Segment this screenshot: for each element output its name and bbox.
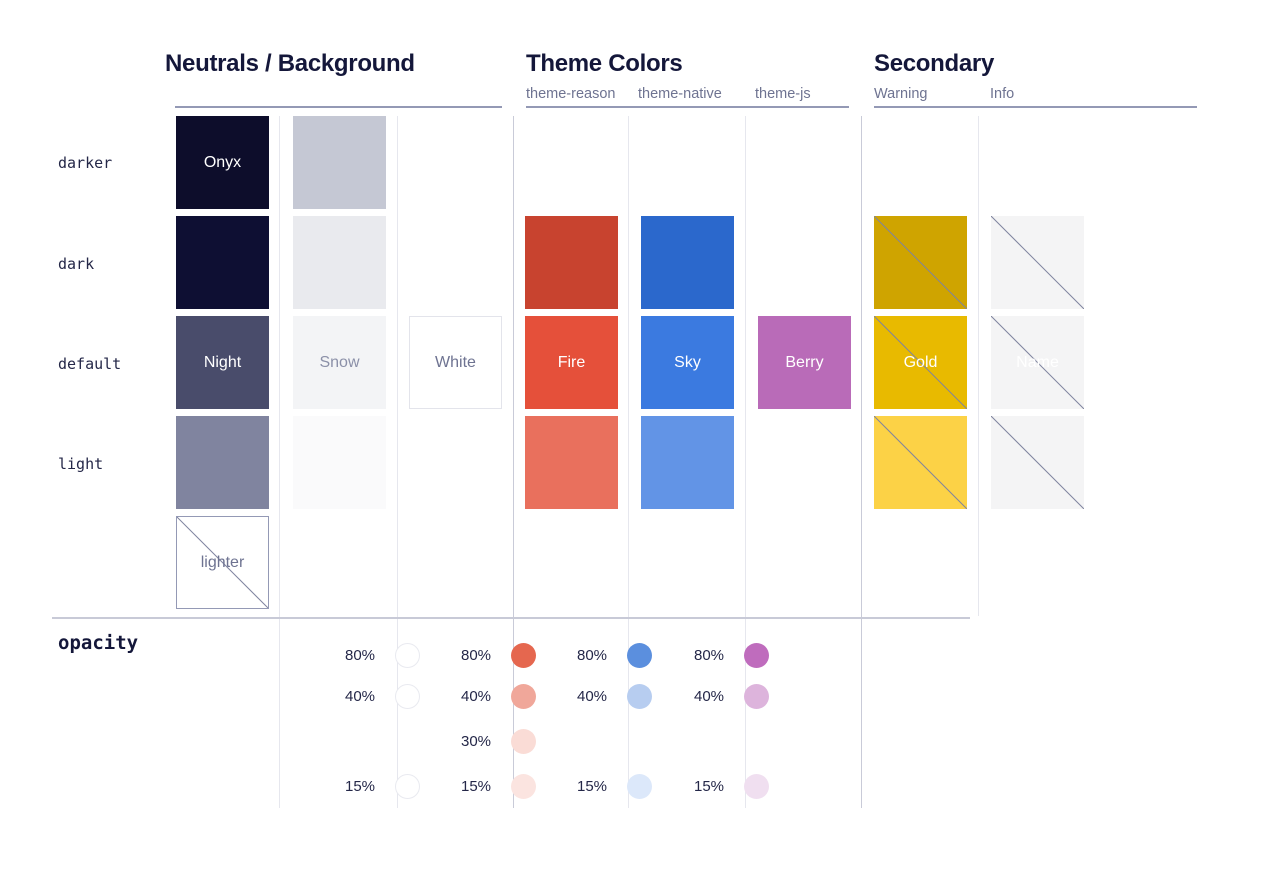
swatch-snow-light[interactable] [293,416,386,509]
opacity-dot-fire-15[interactable] [511,774,536,799]
swatch-label-berry: Berry [785,355,823,371]
section-title-neutrals: Neutrals / Background [165,50,415,78]
swatch-label-white: White [435,355,476,371]
section-subtitle-warning: Warning [874,86,927,102]
swatch-snow-darker[interactable] [293,116,386,209]
opacity-dot-berry-40[interactable] [744,684,769,709]
swatch-label-name: Name [1016,355,1059,371]
row-label-default: default [58,355,121,373]
section-subtitle-theme-reason: theme-reason [526,86,615,102]
opacity-dot-berry-15[interactable] [744,774,769,799]
opacity-dot-fire-80[interactable] [511,643,536,668]
diagonal-placeholder-icon [874,416,967,509]
opacity-dot-sky-80[interactable] [627,643,652,668]
swatch-label-fire: Fire [558,355,586,371]
row-label-darker: darker [58,154,112,172]
opacity-dot-white-80[interactable] [395,643,420,668]
opacity-dot-sky-15[interactable] [627,774,652,799]
swatch-label-onyx: Onyx [204,155,241,171]
opacity-percent-white-15: 15% [345,778,375,795]
grid-line-1 [279,116,280,808]
section-rule-theme [526,106,849,108]
opacity-dot-white-40[interactable] [395,684,420,709]
opacity-percent-berry-80: 80% [694,647,724,664]
opacity-percent-sky-40: 40% [577,688,607,705]
swatch-sky-default[interactable]: Sky [641,316,734,409]
swatch-onyx-lighter[interactable]: lighter [176,516,269,609]
section-subtitle-info: Info [990,86,1014,102]
opacity-dot-fire-30[interactable] [511,729,536,754]
opacity-percent-sky-80: 80% [577,647,607,664]
opacity-percent-fire-15: 15% [461,778,491,795]
swatch-berry-default[interactable]: Berry [758,316,851,409]
grid-line-7 [978,116,979,616]
diagonal-placeholder-icon [874,216,967,309]
swatch-label-onyx: Night [204,355,241,371]
opacity-section-divider [52,617,970,619]
swatch-gold-light[interactable] [874,416,967,509]
swatch-snow-default[interactable]: Snow [293,316,386,409]
opacity-percent-berry-40: 40% [694,688,724,705]
opacity-percent-white-40: 40% [345,688,375,705]
swatch-label-gold: Gold [904,355,938,371]
opacity-percent-fire-40: 40% [461,688,491,705]
swatch-sky-light[interactable] [641,416,734,509]
section-rule-secondary [874,106,1197,108]
opacity-percent-fire-30: 30% [461,733,491,750]
opacity-dot-fire-40[interactable] [511,684,536,709]
swatch-fire-light[interactable] [525,416,618,509]
swatch-name-light[interactable] [991,416,1084,509]
swatch-white-default[interactable]: White [409,316,502,409]
section-subtitle-theme-js: theme-js [755,86,811,102]
diagonal-placeholder-icon [991,416,1084,509]
section-subtitle-theme-native: theme-native [638,86,722,102]
section-title-theme: Theme Colors [526,50,682,78]
swatch-onyx-dark[interactable] [176,216,269,309]
swatch-gold-dark[interactable] [874,216,967,309]
grid-line-6 [861,116,862,808]
swatch-label-onyx: lighter [201,555,245,571]
swatch-gold-default[interactable]: Gold [874,316,967,409]
swatch-name-dark[interactable] [991,216,1084,309]
row-label-dark: dark [58,255,94,273]
opacity-percent-berry-15: 15% [694,778,724,795]
diagonal-placeholder-icon [991,216,1084,309]
opacity-percent-sky-15: 15% [577,778,607,795]
swatch-fire-default[interactable]: Fire [525,316,618,409]
swatch-fire-dark[interactable] [525,216,618,309]
swatch-onyx-default[interactable]: Night [176,316,269,409]
swatch-label-snow: Snow [319,355,359,371]
swatch-sky-dark[interactable] [641,216,734,309]
swatch-snow-dark[interactable] [293,216,386,309]
row-label-light: light [58,455,103,473]
opacity-percent-white-80: 80% [345,647,375,664]
swatch-onyx-darker[interactable]: Onyx [176,116,269,209]
swatch-name-default[interactable]: Name [991,316,1084,409]
opacity-heading: opacity [58,632,138,654]
section-title-secondary: Secondary [874,50,994,78]
opacity-dot-sky-40[interactable] [627,684,652,709]
opacity-dot-berry-80[interactable] [744,643,769,668]
opacity-percent-fire-80: 80% [461,647,491,664]
opacity-dot-white-15[interactable] [395,774,420,799]
section-rule-neutrals [175,106,502,108]
swatch-label-sky: Sky [674,355,701,371]
swatch-onyx-light[interactable] [176,416,269,509]
